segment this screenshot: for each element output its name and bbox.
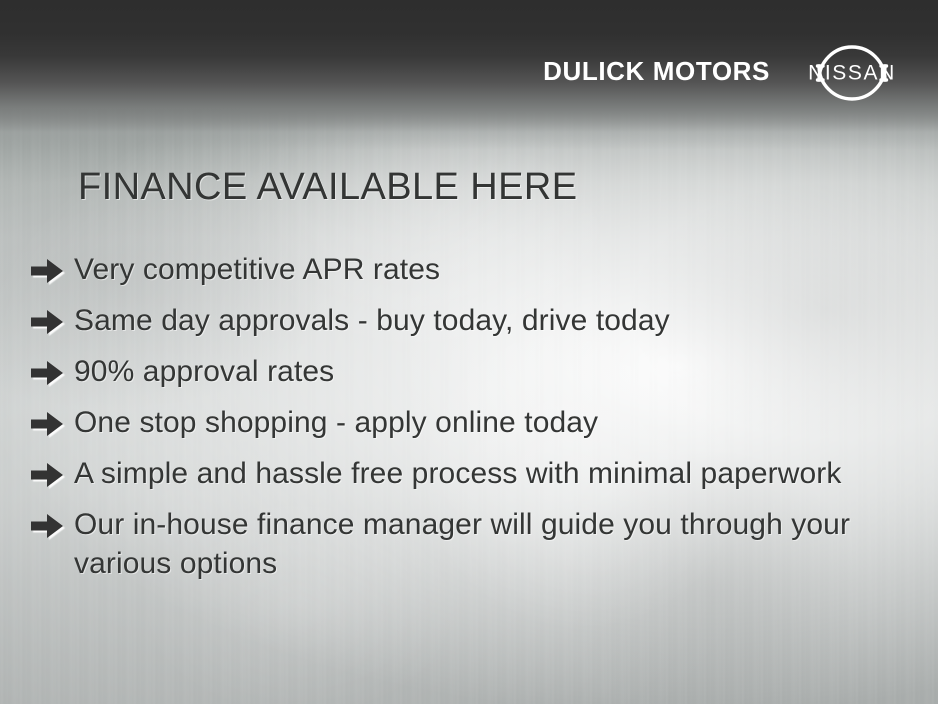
list-item: Very competitive APR rates	[30, 250, 920, 289]
list-item-label: 90% approval rates	[74, 352, 920, 391]
list-item-label: Same day approvals - buy today, drive to…	[74, 301, 920, 340]
arrow-right-icon	[30, 256, 64, 286]
benefits-list: Very competitive APR rates Same day appr…	[30, 250, 920, 583]
presentation-slide: DULICK MOTORS NISSAN FINANCE AVAILABLE H…	[0, 0, 938, 704]
list-item: A simple and hassle free process with mi…	[30, 454, 920, 493]
arrow-right-icon	[30, 358, 64, 388]
arrow-right-icon	[30, 409, 64, 439]
arrow-right-icon	[30, 460, 64, 490]
nissan-logo-icon: NISSAN	[790, 22, 914, 122]
arrow-right-icon	[30, 307, 64, 337]
list-item-label: Very competitive APR rates	[74, 250, 920, 289]
list-item: One stop shopping - apply online today	[30, 403, 920, 442]
list-item-label: Our in-house finance manager will guide …	[74, 505, 920, 583]
nissan-wordmark: NISSAN	[808, 62, 896, 85]
dealer-brand-name: DULICK MOTORS	[543, 56, 770, 87]
list-item: Same day approvals - buy today, drive to…	[30, 301, 920, 340]
list-item: Our in-house finance manager will guide …	[30, 505, 920, 583]
slide-header: DULICK MOTORS NISSAN	[0, 0, 938, 132]
list-item: 90% approval rates	[30, 352, 920, 391]
arrow-right-icon	[30, 511, 64, 541]
list-item-label: A simple and hassle free process with mi…	[74, 454, 920, 493]
list-item-label: One stop shopping - apply online today	[74, 403, 920, 442]
page-title: FINANCE AVAILABLE HERE	[78, 166, 577, 209]
